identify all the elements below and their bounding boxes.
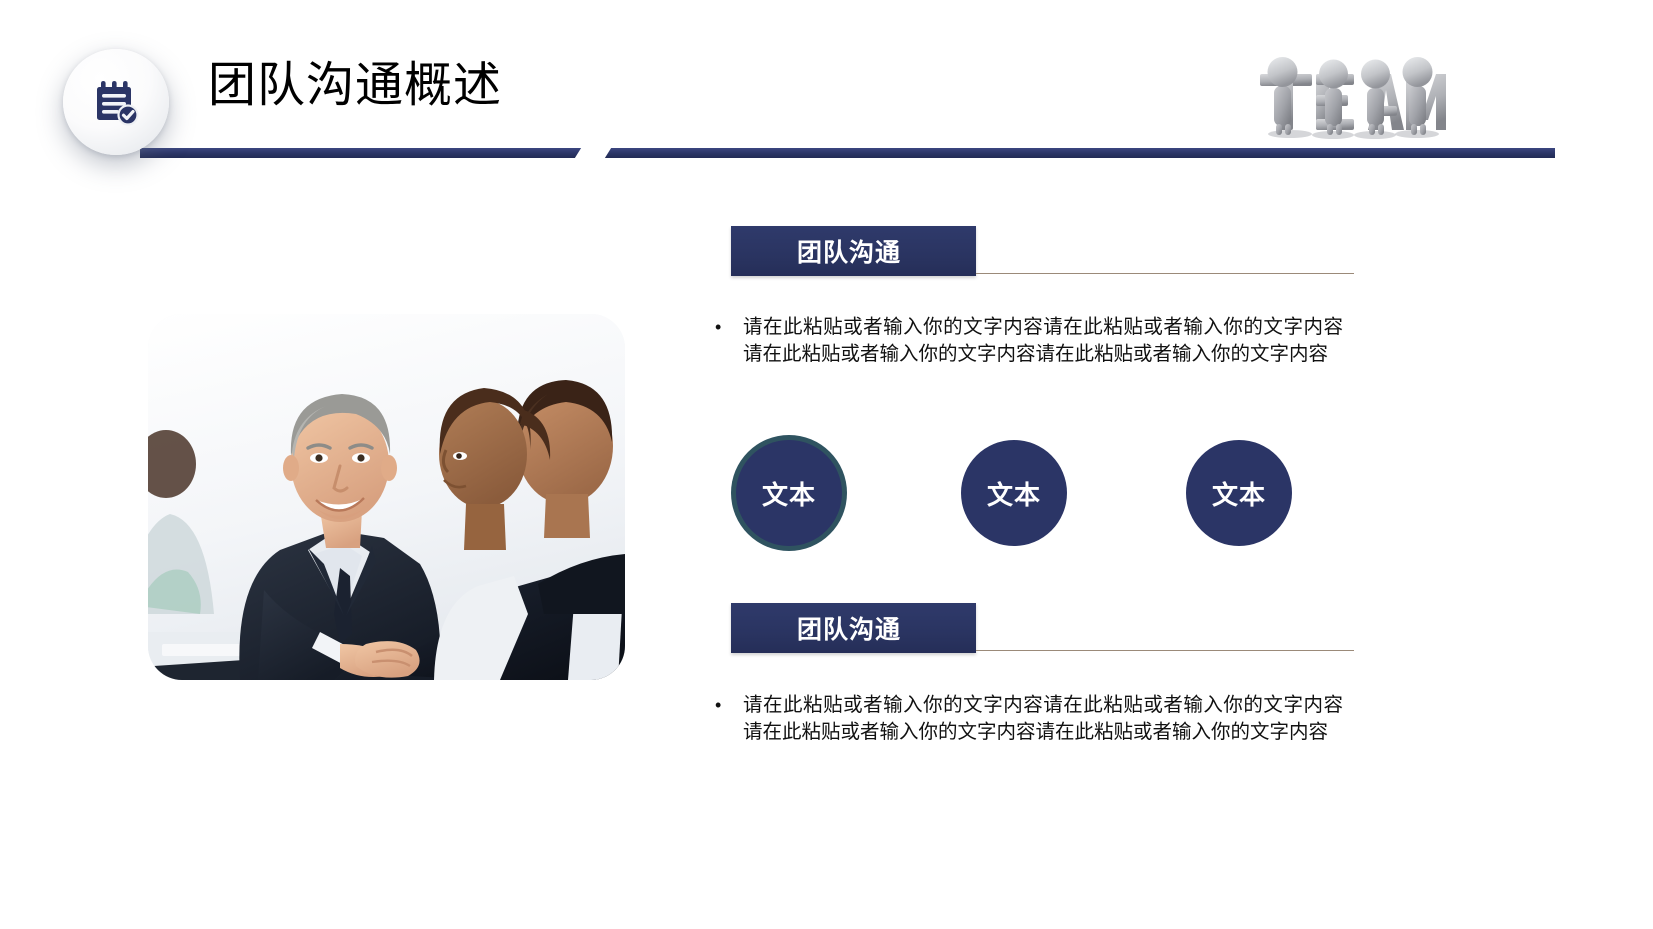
bullet-marker-2: • <box>715 692 743 719</box>
circle-node-1[interactable]: 文本 <box>736 440 842 546</box>
section-heading-rule-1 <box>976 273 1354 274</box>
section-body-text-1: 请在此粘贴或者输入你的文字内容请在此粘贴或者输入你的文字内容请在此粘贴或者输入你… <box>743 314 1343 368</box>
circle-node-label-2: 文本 <box>987 475 1041 512</box>
section-heading-bar-2: 团队沟通 <box>731 603 976 653</box>
header-divider-line <box>140 148 1555 158</box>
circle-node-3[interactable]: 文本 <box>1186 440 1292 546</box>
circle-node-label-3: 文本 <box>1212 475 1266 512</box>
title-badge <box>63 49 169 155</box>
notepad-check-icon <box>90 76 142 128</box>
section-heading-rule-2 <box>976 650 1354 651</box>
circle-node-label-1: 文本 <box>762 475 816 512</box>
team-logo-icon <box>1248 46 1448 146</box>
section-body-text-2: 请在此粘贴或者输入你的文字内容请在此粘贴或者输入你的文字内容请在此粘贴或者输入你… <box>743 692 1343 746</box>
section-heading-bar-1: 团队沟通 <box>731 226 976 276</box>
business-handshake-photo <box>148 314 625 680</box>
section-heading-label-2: 团队沟通 <box>797 610 901 646</box>
page-title: 团队沟通概述 <box>208 62 502 110</box>
section-body-block-2: • 请在此粘贴或者输入你的文字内容请在此粘贴或者输入你的文字内容请在此粘贴或者输… <box>715 692 1343 746</box>
section-heading-label-1: 团队沟通 <box>797 233 901 269</box>
bullet-marker-1: • <box>715 314 743 341</box>
section-body-block-1: • 请在此粘贴或者输入你的文字内容请在此粘贴或者输入你的文字内容请在此粘贴或者输… <box>715 314 1343 368</box>
slide-canvas: 团队沟通概述 <box>0 0 1653 929</box>
header-divider-notch <box>572 143 614 163</box>
circle-node-2[interactable]: 文本 <box>961 440 1067 546</box>
